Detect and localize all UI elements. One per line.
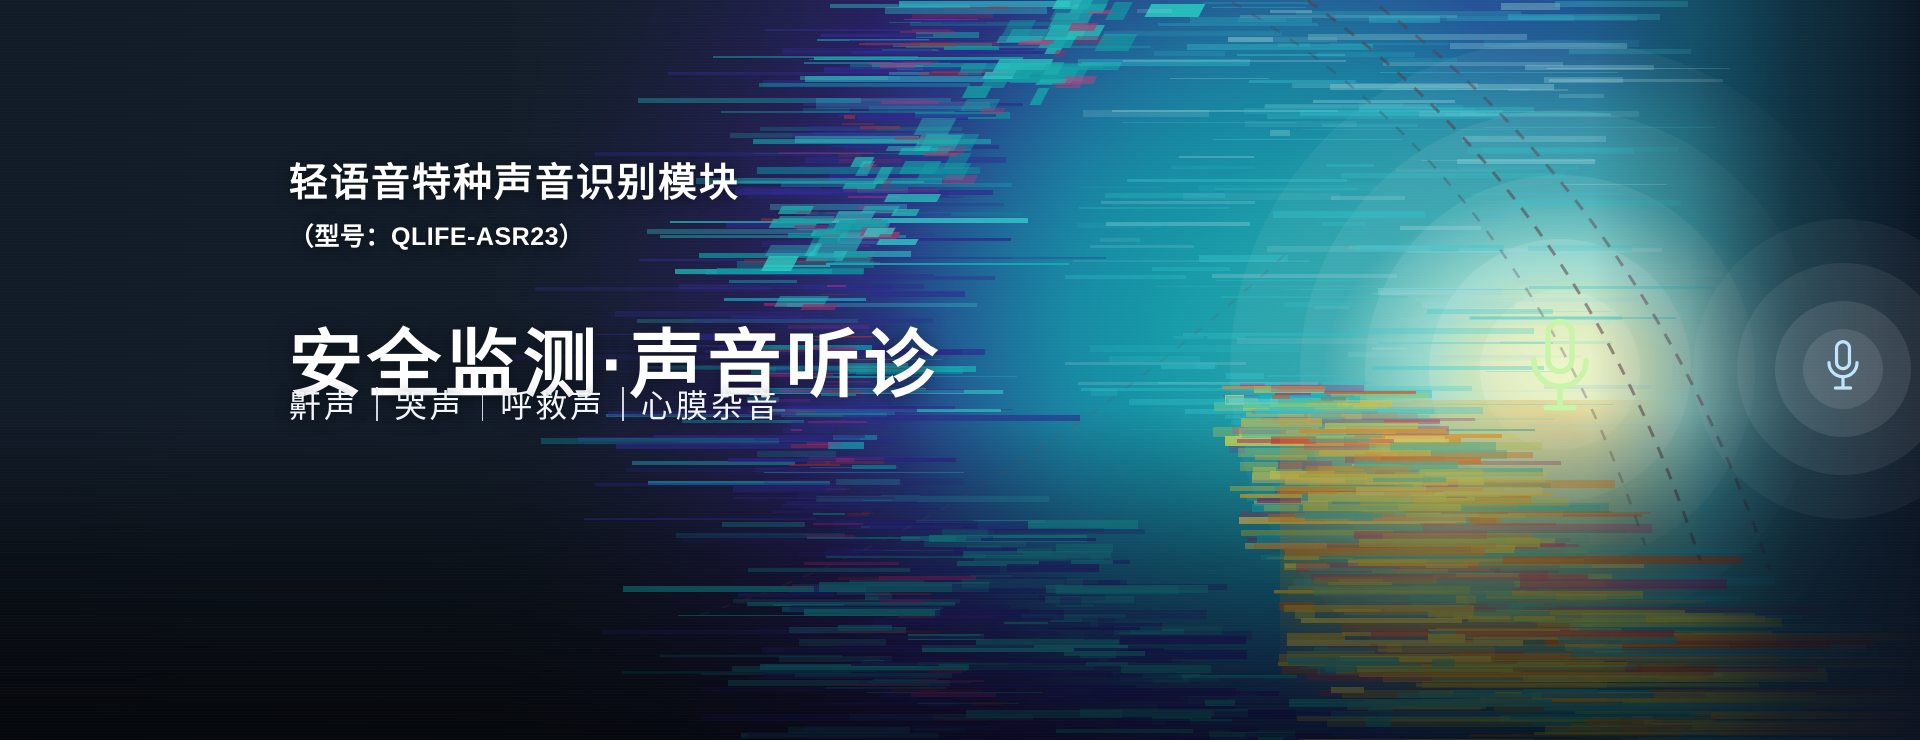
model-number: （型号：QLIFE-ASR23） xyxy=(289,217,585,253)
sound-type-list: 鼾声哭声呼救声心膜杂音 xyxy=(289,381,781,427)
sound-type-item: 鼾声 xyxy=(289,381,359,427)
primary-microphone xyxy=(1523,316,1597,425)
list-separator xyxy=(482,387,484,421)
list-separator xyxy=(622,387,624,421)
sound-type-item: 呼救声 xyxy=(500,381,605,427)
microphone-icon xyxy=(1523,316,1597,420)
sound-type-item: 心膜杂音 xyxy=(641,381,781,427)
list-separator xyxy=(376,387,378,421)
module-title: 轻语音特种声音识别模块 xyxy=(289,152,740,208)
banner-content: 轻语音特种声音识别模块 （型号：QLIFE-ASR23） 安全监测·声音听诊 鼾… xyxy=(289,0,1049,740)
hero-banner: 轻语音特种声音识别模块 （型号：QLIFE-ASR23） 安全监测·声音听诊 鼾… xyxy=(0,0,1920,740)
sound-type-item: 哭声 xyxy=(395,381,465,427)
microphone-icon xyxy=(1823,339,1863,395)
